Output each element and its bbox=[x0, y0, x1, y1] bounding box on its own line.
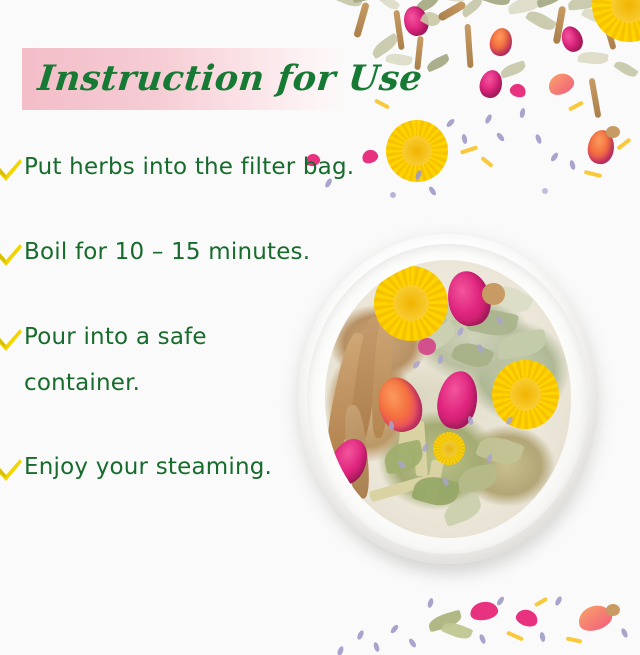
marigold-flower-top bbox=[592, 0, 640, 42]
bowl-contents bbox=[325, 260, 571, 537]
marigold-flower-left bbox=[386, 120, 448, 182]
marigold-flower-in-bowl-top bbox=[374, 266, 448, 341]
list-item-label: Pour into a safe container. bbox=[24, 314, 207, 406]
instruction-card: Instruction for Use Put herbs into the f… bbox=[0, 0, 640, 655]
list-item: Enjoy your steaming. bbox=[0, 456, 272, 490]
chrysanthemum-flower-in-bowl-right bbox=[492, 360, 558, 429]
list-item-label: Boil for 10 – 15 minutes. bbox=[24, 229, 310, 275]
decor-top-right-botanicals bbox=[330, 0, 640, 207]
check-icon bbox=[0, 241, 24, 271]
list-item: Put herbs into the filter bag. bbox=[0, 156, 354, 190]
herbal-tea-bowl-image bbox=[290, 222, 610, 592]
list-item-label: Enjoy your steaming. bbox=[24, 444, 272, 490]
decor-bottom-right-petals bbox=[330, 590, 640, 655]
list-item: Pour into a safe container. bbox=[0, 326, 207, 406]
list-item: Boil for 10 – 15 minutes. bbox=[0, 241, 310, 275]
check-icon bbox=[0, 456, 24, 486]
page-title: Instruction for Use bbox=[35, 49, 371, 109]
check-icon bbox=[0, 156, 24, 186]
check-icon bbox=[0, 326, 24, 356]
list-item-label: Put herbs into the filter bag. bbox=[24, 144, 354, 190]
bowl bbox=[298, 234, 598, 564]
